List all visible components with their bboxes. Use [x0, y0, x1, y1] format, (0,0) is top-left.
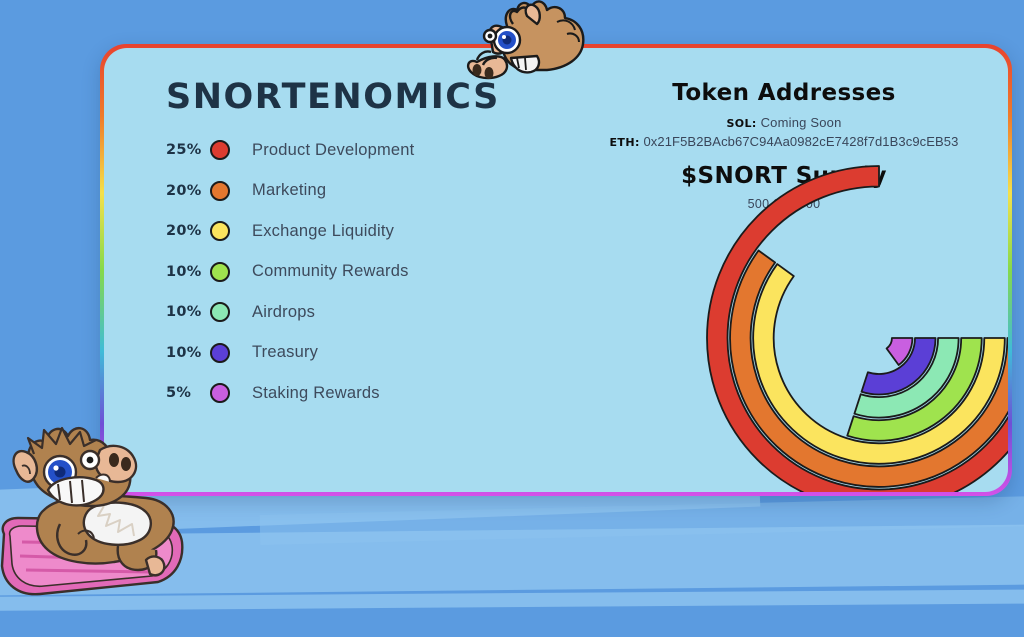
- legend-color-dot: [210, 221, 230, 241]
- legend-percent: 20%: [166, 223, 210, 239]
- eth-address-row: ETH: 0x21F5B2BAcb67C94Aa0982cE7428f7d1B3…: [574, 134, 994, 149]
- legend-item[interactable]: 5%Staking Rewards: [166, 380, 566, 406]
- legend-label: Airdrops: [252, 303, 315, 322]
- legend-percent: 10%: [166, 264, 210, 280]
- sol-chain-tag: SOL:: [726, 117, 756, 130]
- legend-label: Product Development: [252, 141, 414, 160]
- radial-chart-svg: Product Development — 25%Marketing — 20%…: [574, 166, 994, 492]
- legend-item[interactable]: 10%Airdrops: [166, 299, 566, 325]
- legend-item[interactable]: 20%Exchange Liquidity: [166, 218, 566, 244]
- sol-address-value[interactable]: Coming Soon: [761, 115, 842, 130]
- legend-percent: 10%: [166, 304, 210, 320]
- boar-head-icon: [455, 0, 591, 88]
- boar-on-pool-float-icon: [0, 414, 212, 614]
- legend-label: Treasury: [252, 343, 318, 362]
- sol-address-row: SOL: Coming Soon: [574, 115, 994, 130]
- legend-label: Staking Rewards: [252, 384, 380, 403]
- eth-address-value[interactable]: 0x21F5B2BAcb67C94Aa0982cE7428f7d1B3c9cEB…: [643, 134, 958, 149]
- legend-color-dot: [210, 302, 230, 322]
- legend-percent: 25%: [166, 142, 210, 158]
- eth-chain-tag: ETH:: [610, 136, 640, 149]
- tokenomics-left-column: SNORTENOMICS 25%Product Development20%Ma…: [166, 80, 566, 406]
- legend-label: Exchange Liquidity: [252, 222, 394, 241]
- tokenomics-card-inner: SNORTENOMICS 25%Product Development20%Ma…: [104, 48, 1008, 492]
- supply-radial-chart: Product Development — 25%Marketing — 20%…: [574, 166, 994, 492]
- legend-color-dot: [210, 383, 230, 403]
- legend-percent: 5%: [166, 385, 210, 401]
- legend-label: Community Rewards: [252, 262, 409, 281]
- legend-percent: 10%: [166, 345, 210, 361]
- legend-color-dot: [210, 343, 230, 363]
- legend-color-dot: [210, 181, 230, 201]
- token-addresses-heading: Token Addresses: [574, 80, 994, 106]
- legend-color-dot: [210, 140, 230, 160]
- legend-item[interactable]: 10%Community Rewards: [166, 259, 566, 285]
- legend-color-dot: [210, 262, 230, 282]
- legend-item[interactable]: 20%Marketing: [166, 178, 566, 204]
- legend-item[interactable]: 25%Product Development: [166, 137, 566, 163]
- legend-label: Marketing: [252, 181, 326, 200]
- legend-percent: 20%: [166, 183, 210, 199]
- tokenomics-card: SNORTENOMICS 25%Product Development20%Ma…: [100, 44, 1012, 496]
- allocation-legend-list: 25%Product Development20%Marketing20%Exc…: [166, 137, 566, 406]
- legend-item[interactable]: 10%Treasury: [166, 340, 566, 366]
